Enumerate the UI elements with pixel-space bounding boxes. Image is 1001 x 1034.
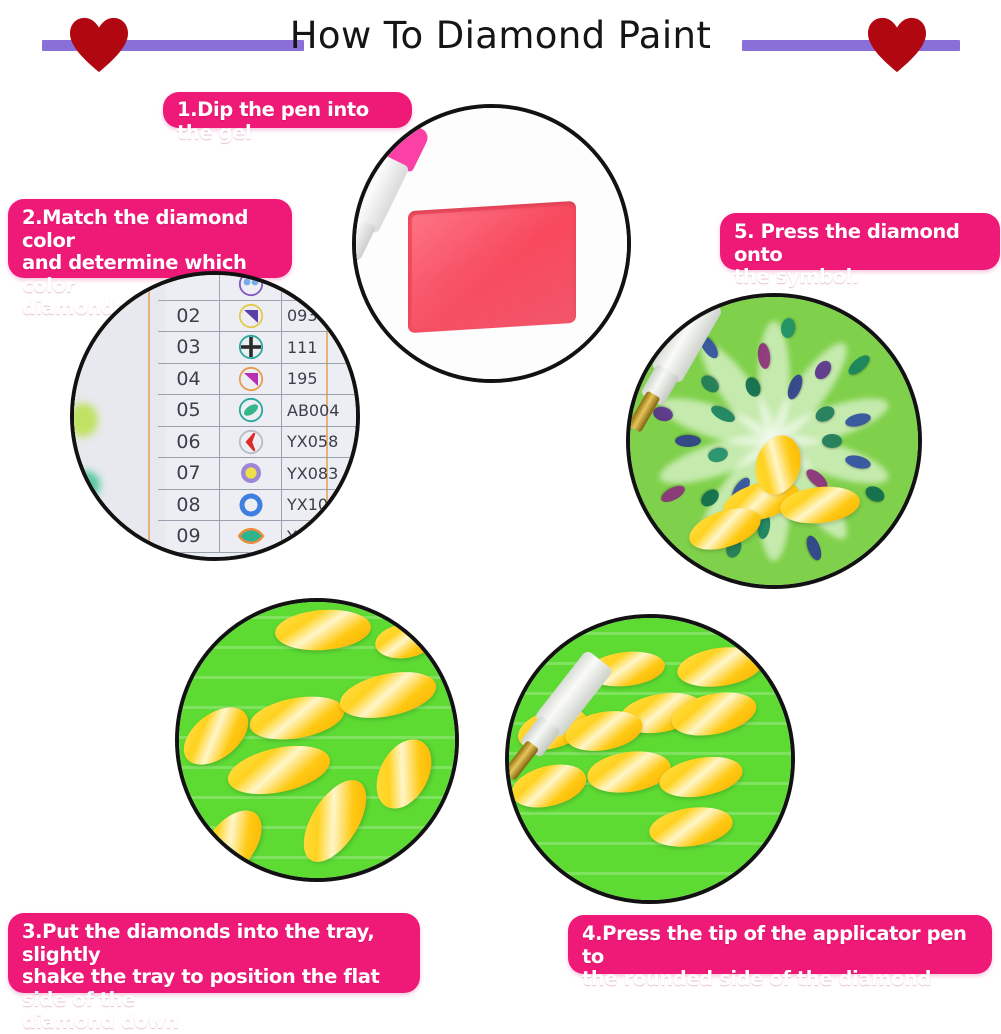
- tray-groove: [509, 812, 791, 815]
- step-2-label-line-1: 2.Match the diamond color: [22, 207, 278, 252]
- mandala-gem: [659, 483, 688, 506]
- color-chart-row: 09YX125: [158, 521, 360, 553]
- chart-number-cell: 06: [158, 427, 220, 458]
- photo-pen-in-gel: [352, 104, 631, 383]
- color-chart-row: 03111: [158, 332, 360, 364]
- color-chart-row: 04195: [158, 364, 360, 396]
- chart-number-cell: 09: [158, 521, 220, 552]
- step-4-label-line-2: the rounded side of the diamond: [582, 968, 978, 991]
- yellow-circle-triangle-symbol: [220, 301, 282, 332]
- mandala-gem: [675, 435, 701, 447]
- canvas-print-area: [74, 275, 166, 557]
- diamond-tray: [179, 602, 455, 878]
- photo-press-onto-symbol: [626, 293, 922, 589]
- chart-number-cell: 02: [158, 301, 220, 332]
- gel-pad: [408, 201, 576, 333]
- photo-pen-picks-diamond: [505, 614, 795, 904]
- color-chart-row: 06YX058: [158, 427, 360, 459]
- chart-code-cell: YX106: [282, 490, 360, 521]
- header: How To Diamond Paint: [0, 0, 1001, 88]
- step-3-label-line-3: diamond down: [22, 1011, 406, 1034]
- photo-color-chart: 02802093031110419505AB00406YX05807YX0830…: [70, 271, 360, 561]
- diamond-gem: [188, 799, 274, 882]
- diamond-gem: [675, 642, 765, 692]
- color-chart-row: 07YX083: [158, 458, 360, 490]
- chart-number-cell: 08: [158, 490, 220, 521]
- step-4-label: 4.Press the tip of the applicator pen to…: [568, 915, 992, 974]
- purple-circle-dots-symbol: [220, 271, 282, 300]
- photo-diamonds-in-tray: [175, 598, 459, 882]
- diamond-gem: [224, 738, 335, 803]
- mandala-gem: [863, 483, 887, 505]
- chart-code-cell: 195: [282, 364, 360, 395]
- mandala-gem: [846, 352, 873, 378]
- chart-code-cell: YX125: [282, 521, 360, 552]
- color-chart-row: 05AB004: [158, 395, 360, 427]
- step-2-label: 2.Match the diamond color and determine …: [8, 199, 292, 278]
- diamond-gem: [336, 664, 441, 725]
- color-chart-row: 028: [158, 271, 360, 301]
- chart-code-cell: 093: [282, 301, 360, 332]
- diamond-gem: [656, 751, 745, 803]
- blue-ring-symbol: [220, 490, 282, 521]
- chart-number-cell: 04: [158, 364, 220, 395]
- chart-number-cell: 03: [158, 332, 220, 363]
- tray-groove: [509, 842, 791, 845]
- chart-code-cell: 028: [282, 271, 360, 300]
- canvas-guide-line: [148, 275, 150, 557]
- mandala-gem: [822, 434, 842, 448]
- color-chart-table: 02802093031110419505AB00406YX05807YX0830…: [158, 271, 360, 553]
- color-chart-row: 08YX106: [158, 490, 360, 522]
- purple-ring-yellow-dot-symbol: [220, 458, 282, 489]
- step-3-label-line-1: 3.Put the diamonds into the tray, slight…: [22, 921, 406, 966]
- diamond-gem: [365, 730, 442, 818]
- step-4-label-line-1: 4.Press the tip of the applicator pen to: [582, 923, 978, 968]
- step-3-label: 3.Put the diamonds into the tray, slight…: [8, 913, 420, 993]
- step-5-label-line-1: 5. Press the diamond onto: [734, 221, 986, 266]
- orange-circle-triangle-symbol: [220, 364, 282, 395]
- step-5-label: 5. Press the diamond onto the symbol.: [720, 213, 1000, 270]
- gray-circle-arrow-symbol: [220, 427, 282, 458]
- mandala-gem: [804, 533, 824, 562]
- teal-circle-cross-symbol: [220, 332, 282, 363]
- chart-number-cell: 07: [158, 458, 220, 489]
- tray-groove: [509, 872, 791, 875]
- chart-number-cell: [158, 271, 220, 300]
- chart-code-cell: 111: [282, 332, 360, 363]
- chart-code-cell: YX083: [282, 458, 360, 489]
- page-title: How To Diamond Paint: [0, 14, 1001, 57]
- diamond-gem: [373, 620, 437, 662]
- green-leaf-symbol: [220, 521, 282, 552]
- chart-number-cell: 05: [158, 395, 220, 426]
- teal-circle-oval-symbol: [220, 395, 282, 426]
- tray-groove: [509, 632, 791, 635]
- infographic-root: How To Diamond Paint 1.Dip the pen into …: [0, 0, 1001, 1001]
- chart-code-cell: YX058: [282, 427, 360, 458]
- chart-code-cell: AB004: [282, 395, 360, 426]
- color-chart-row: 02093: [158, 301, 360, 333]
- step-3-label-line-2: shake the tray to position the flat side…: [22, 966, 406, 1011]
- step-5-label-line-2: the symbol.: [734, 266, 986, 289]
- mandala-gem: [780, 317, 796, 339]
